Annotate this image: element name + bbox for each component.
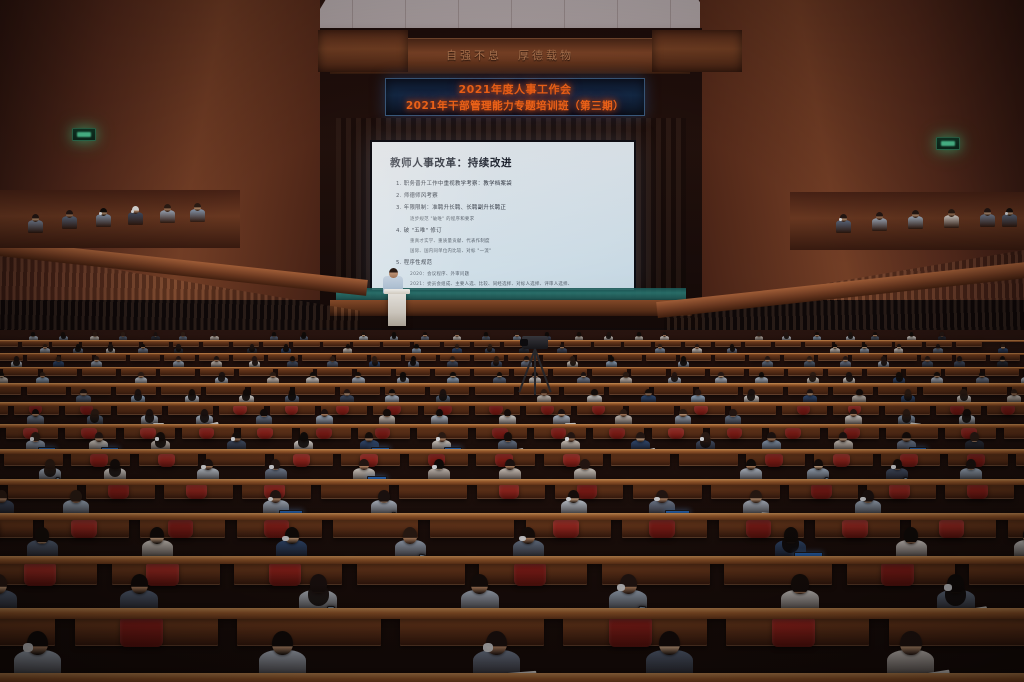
slide-subbullet: 重真才实学、重质量贡献、代表作制度 bbox=[410, 238, 622, 244]
seat-cushion[interactable] bbox=[765, 454, 783, 467]
face-mask bbox=[99, 212, 102, 215]
attendee-head bbox=[93, 332, 97, 336]
stage-front-edge bbox=[330, 300, 692, 316]
seat-desk-rail bbox=[0, 367, 1024, 370]
attendee-head bbox=[504, 432, 513, 442]
face-mask bbox=[891, 465, 896, 469]
attendee-head bbox=[910, 332, 914, 336]
attendee-head bbox=[270, 372, 276, 379]
attendee-hair bbox=[134, 393, 142, 401]
face-mask bbox=[30, 437, 34, 440]
seat-desk-rail bbox=[0, 340, 1024, 343]
attendee-head bbox=[290, 356, 295, 362]
attendee-head bbox=[679, 409, 686, 418]
attendee-hair bbox=[881, 360, 887, 366]
seat-desk-rail bbox=[0, 673, 1024, 682]
attendee-head bbox=[902, 432, 911, 442]
seat-desk-rail bbox=[0, 479, 1024, 485]
attendee-torso bbox=[944, 215, 959, 228]
seat-cushion[interactable] bbox=[120, 618, 163, 647]
seat-cushion[interactable] bbox=[316, 428, 331, 439]
attendee-hair bbox=[90, 413, 99, 422]
seat-desk-rail bbox=[0, 424, 1024, 428]
attendee-head bbox=[934, 372, 940, 379]
attendee-head bbox=[940, 332, 944, 336]
attendee-head bbox=[359, 459, 369, 471]
seat-desk-rail bbox=[0, 608, 1024, 619]
attendee-head bbox=[850, 409, 857, 418]
attendee-head bbox=[862, 344, 866, 349]
attendee-head bbox=[423, 332, 427, 336]
attendee-head bbox=[873, 332, 877, 336]
attendee-head bbox=[765, 356, 770, 362]
balcony-attendee bbox=[160, 204, 175, 225]
attendee-head bbox=[346, 344, 350, 349]
attendee-head bbox=[455, 332, 459, 336]
balcony-attendee bbox=[836, 214, 851, 235]
attendee-head bbox=[904, 527, 918, 543]
seat-desk-rail bbox=[0, 513, 1024, 520]
balcony-attendee bbox=[28, 214, 43, 235]
balcony-attendee bbox=[96, 208, 111, 229]
slide-bullet: 4. 破 "五唯" 修订 bbox=[396, 226, 622, 234]
attendee-torso bbox=[836, 220, 851, 233]
attendee-head bbox=[138, 372, 144, 379]
attendee-hair bbox=[188, 393, 196, 401]
seat-cushion[interactable] bbox=[71, 520, 96, 538]
balcony-attendee bbox=[62, 210, 77, 231]
attendee-torso bbox=[28, 220, 43, 233]
attendee-head bbox=[695, 344, 699, 349]
seat-cushion[interactable] bbox=[649, 520, 674, 538]
face-mask bbox=[131, 210, 134, 213]
attendee-head bbox=[414, 344, 418, 349]
attendee-head bbox=[403, 527, 417, 543]
attendee-head bbox=[750, 490, 762, 504]
attendee-hair bbox=[61, 335, 66, 340]
presentation-slide: 教师人事改革：持续改进 1. 职务晋升工作中重视教学考察：教学档案袋 2. 师德… bbox=[372, 142, 634, 290]
attendee-head bbox=[577, 332, 581, 336]
attendee-head bbox=[362, 332, 366, 336]
attendee-head bbox=[856, 389, 862, 397]
slide-bullet: 1. 职务晋升工作中重视教学考察：教学档案袋 bbox=[396, 179, 622, 187]
led-banner: 2021年度人事工作会 2021年干部管理能力专题培训班（第三期） bbox=[385, 78, 645, 116]
auditorium-photo: 自强不息 厚德载物 2021年度人事工作会 2021年干部管理能力专题培训班（第… bbox=[0, 0, 1024, 682]
slide-subbullet: 2021：委员会组成、主要人选、比较、同经选择、对标人选择、评审人选择、 bbox=[410, 281, 622, 287]
attendee-torso bbox=[160, 210, 175, 223]
attendee-head bbox=[32, 214, 39, 222]
seat-cushion[interactable] bbox=[108, 484, 129, 499]
seat-cushion[interactable] bbox=[553, 520, 578, 538]
attendee-hair bbox=[570, 360, 576, 366]
attendee-head bbox=[181, 332, 185, 336]
attendee-head bbox=[56, 356, 61, 362]
attendee-head bbox=[141, 344, 145, 349]
face-mask bbox=[519, 536, 526, 542]
attendee-head bbox=[839, 432, 848, 442]
attendee-head bbox=[815, 332, 819, 336]
audience-seating bbox=[0, 330, 1024, 682]
seat-cushion[interactable] bbox=[186, 484, 207, 499]
seat-cushion[interactable] bbox=[811, 484, 832, 499]
attendee-head bbox=[948, 209, 955, 217]
face-mask bbox=[839, 218, 842, 221]
seat-cushion[interactable] bbox=[257, 428, 272, 439]
attendee-hair bbox=[846, 375, 853, 382]
seat-cushion[interactable] bbox=[772, 618, 815, 647]
front-wall-right bbox=[700, 0, 1024, 300]
seat-cushion[interactable] bbox=[609, 428, 624, 439]
slide-subbullet: 逐步规范 "破唯" 的程序和要求 bbox=[410, 216, 622, 222]
balcony-attendee bbox=[980, 208, 995, 229]
attendee-head bbox=[164, 204, 171, 212]
attendee-hair bbox=[962, 413, 971, 422]
attendee-hair bbox=[680, 360, 686, 366]
podium-top bbox=[384, 289, 410, 294]
seat-desk-rail bbox=[0, 556, 1024, 564]
attendee-head bbox=[515, 332, 519, 336]
attendee-hair bbox=[13, 360, 19, 366]
seat-cushion[interactable] bbox=[293, 454, 311, 467]
seat-desk-rail bbox=[0, 383, 1024, 386]
exit-sign-icon bbox=[72, 128, 96, 141]
attendee-hair bbox=[439, 393, 447, 401]
banner-line-1: 2021年度人事工作会 bbox=[458, 81, 571, 97]
face-mask bbox=[700, 437, 704, 440]
slide-bullet: 2. 师德师风考察 bbox=[396, 191, 622, 199]
attendee-head bbox=[591, 389, 597, 397]
attendee-head bbox=[31, 332, 35, 336]
slide-bullet: 3. 年限限制：准聘升长聘、长聘副升长聘正 bbox=[396, 203, 622, 211]
exit-sign-icon bbox=[936, 137, 960, 150]
attendee-head bbox=[194, 203, 201, 211]
attendee-head bbox=[260, 409, 267, 418]
attendee-head bbox=[272, 332, 276, 336]
face-mask bbox=[565, 437, 569, 440]
seat-cushion[interactable] bbox=[785, 428, 800, 439]
balcony-attendee bbox=[190, 203, 205, 224]
attendee-head bbox=[729, 409, 736, 418]
attendee-torso bbox=[872, 218, 887, 231]
attendee-hair bbox=[283, 347, 288, 352]
attendee-hair bbox=[75, 347, 80, 352]
face-mask bbox=[432, 465, 437, 469]
face-mask bbox=[231, 437, 235, 440]
attendee-hair bbox=[44, 465, 56, 477]
attendee-head bbox=[791, 574, 808, 594]
screen-surface: 教师人事改革：持续改进 1. 职务晋升工作中重视教学考察：教学档案袋 2. 师德… bbox=[372, 142, 634, 290]
attendee-head bbox=[154, 332, 158, 336]
attendee-hair bbox=[730, 347, 735, 352]
attendee-head bbox=[936, 344, 940, 349]
seat-cushion[interactable] bbox=[727, 428, 742, 439]
attendee-head bbox=[957, 356, 962, 362]
attendee-hair bbox=[493, 360, 499, 366]
attendee-head bbox=[637, 332, 641, 336]
attendee-hair bbox=[252, 360, 258, 366]
attendee-head bbox=[272, 631, 293, 656]
seat-desk-rail bbox=[0, 449, 1024, 454]
attendee-head bbox=[659, 631, 680, 656]
attendee-hair bbox=[960, 393, 968, 401]
attendee-head bbox=[767, 432, 776, 442]
slide-subbullet: 国际、国内同单位内比较、对标 "一流" bbox=[410, 248, 622, 254]
balcony-attendee bbox=[908, 210, 923, 231]
attendee-head bbox=[484, 332, 488, 336]
attendee-head bbox=[897, 344, 901, 349]
attendee-head bbox=[121, 332, 125, 336]
attendee-hair bbox=[108, 347, 113, 352]
attendee-head bbox=[966, 459, 976, 471]
face-mask bbox=[436, 437, 440, 440]
attendee-head bbox=[504, 409, 511, 418]
face-mask bbox=[201, 465, 206, 469]
seat-desk-rail bbox=[0, 353, 1024, 356]
attendee-hair bbox=[288, 393, 296, 401]
attendee-torso bbox=[190, 209, 205, 222]
attendee-hair bbox=[176, 347, 181, 352]
attendee-head bbox=[623, 372, 629, 379]
attendee-torso bbox=[128, 212, 143, 225]
projection-screen: 教师人事改革：持续改进 1. 职务晋升工作中重视教学考察：教学档案袋 2. 师德… bbox=[370, 140, 636, 292]
slide-bullet: 5. 程序性规范 bbox=[396, 258, 622, 266]
attendee-head bbox=[213, 332, 217, 336]
attendee-head bbox=[843, 356, 848, 362]
attendee-hair bbox=[902, 413, 911, 422]
seat-desk-rail bbox=[0, 402, 1024, 406]
seat-cushion[interactable] bbox=[939, 520, 964, 538]
attendee-hair bbox=[848, 335, 853, 340]
attendee-head bbox=[560, 344, 564, 349]
attendee-head bbox=[450, 372, 456, 379]
balcony-attendee bbox=[128, 206, 143, 227]
attendee-head bbox=[310, 372, 316, 379]
attendee-head bbox=[80, 389, 86, 397]
attendee-head bbox=[94, 356, 99, 362]
podium bbox=[388, 292, 406, 326]
balcony-attendee bbox=[944, 209, 959, 230]
seat-cushion[interactable] bbox=[842, 520, 867, 538]
face-mask bbox=[155, 437, 159, 440]
attendee-hair bbox=[145, 413, 154, 422]
seat-cushion[interactable] bbox=[967, 484, 988, 499]
attendee-hair bbox=[200, 413, 209, 422]
video-camera-tripod bbox=[520, 336, 550, 398]
seat-cushion[interactable] bbox=[199, 428, 214, 439]
attendee-head bbox=[365, 432, 374, 442]
seat-cushion[interactable] bbox=[668, 428, 683, 439]
attendee-head bbox=[658, 344, 662, 349]
attendee-torso bbox=[96, 214, 111, 227]
attendee-hair bbox=[904, 393, 912, 401]
seat-cushion[interactable] bbox=[694, 405, 708, 415]
attendee-head bbox=[912, 210, 919, 218]
motto-phrase-1: 自强不息 bbox=[446, 47, 502, 63]
camera-lens bbox=[520, 339, 528, 346]
seat-cushion[interactable] bbox=[158, 454, 176, 467]
seat-cushion[interactable] bbox=[889, 484, 910, 499]
slide-title: 教师人事改革：持续改进 bbox=[390, 155, 622, 170]
seat-cushion[interactable] bbox=[514, 563, 546, 585]
motto-phrase-2: 厚德载物 bbox=[518, 47, 574, 63]
attendee-head bbox=[807, 356, 812, 362]
speaker-head bbox=[389, 268, 398, 278]
attendee-head bbox=[636, 432, 645, 442]
attendee-head bbox=[663, 332, 667, 336]
banner-line-2: 2021年干部管理能力专题培训班（第三期） bbox=[406, 98, 624, 113]
attendee-torso bbox=[62, 216, 77, 229]
attendee-head bbox=[620, 409, 627, 418]
face-mask bbox=[617, 584, 626, 591]
face-mask bbox=[23, 643, 34, 651]
seat-cushion[interactable] bbox=[499, 484, 520, 499]
attendee-torso bbox=[980, 214, 995, 227]
attendee-hair bbox=[298, 437, 308, 447]
slide-subbullet: 2020：会议程序、外审问题 bbox=[410, 271, 622, 277]
balcony-attendee bbox=[1002, 208, 1017, 229]
face-mask bbox=[483, 643, 494, 651]
attendee-hair bbox=[249, 347, 254, 352]
tripod-leg bbox=[534, 349, 552, 393]
attendee-torso bbox=[908, 216, 923, 229]
attendee-hair bbox=[896, 375, 903, 382]
attendee-head bbox=[505, 459, 515, 471]
attendee-head bbox=[900, 631, 921, 656]
attendee-head bbox=[757, 332, 761, 336]
attendee-head bbox=[95, 432, 104, 442]
attendee-hair bbox=[308, 585, 329, 606]
seat-cushion[interactable] bbox=[269, 563, 301, 585]
attendee-head bbox=[970, 432, 979, 442]
seat-cushion[interactable] bbox=[24, 563, 56, 585]
face-mask bbox=[1005, 212, 1008, 215]
attendee-hair bbox=[784, 335, 789, 340]
motto-text: 自强不息 厚德载物 bbox=[330, 44, 690, 66]
attendee-head bbox=[70, 490, 82, 504]
attendee-head bbox=[35, 527, 49, 543]
attendee-head bbox=[876, 212, 883, 220]
attendee-hair bbox=[372, 360, 378, 366]
attendee-torso bbox=[1002, 214, 1017, 227]
attendee-head bbox=[984, 208, 991, 216]
attendee-head bbox=[66, 210, 73, 218]
attendee-head bbox=[383, 409, 390, 418]
attendee-head bbox=[176, 356, 181, 362]
attendee-head bbox=[131, 574, 148, 594]
attendee-head bbox=[471, 574, 488, 594]
seat-cushion[interactable] bbox=[881, 563, 913, 585]
attendee-head bbox=[645, 389, 651, 397]
face-mask bbox=[269, 465, 274, 469]
attendee-head bbox=[150, 527, 164, 543]
balcony-attendee bbox=[872, 212, 887, 233]
seat-cushion[interactable] bbox=[746, 520, 771, 538]
seat-cushion[interactable] bbox=[833, 454, 851, 467]
